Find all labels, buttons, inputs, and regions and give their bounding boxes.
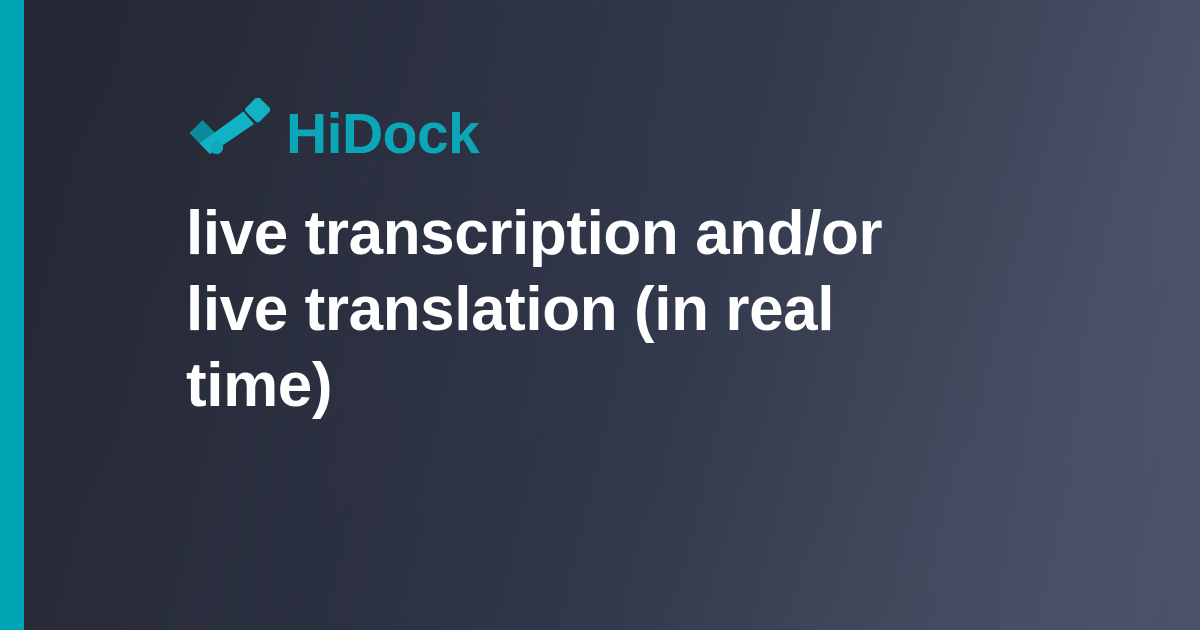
- card-content: HiDock live transcription and/or live tr…: [186, 0, 1086, 630]
- headline: live transcription and/or live translati…: [186, 196, 966, 424]
- checkmark-icon: [186, 98, 270, 166]
- og-share-card: HiDock live transcription and/or live tr…: [0, 0, 1200, 630]
- left-accent-bar: [0, 0, 24, 630]
- brand-lockup: HiDock: [186, 96, 479, 168]
- brand-name: HiDock: [286, 106, 479, 163]
